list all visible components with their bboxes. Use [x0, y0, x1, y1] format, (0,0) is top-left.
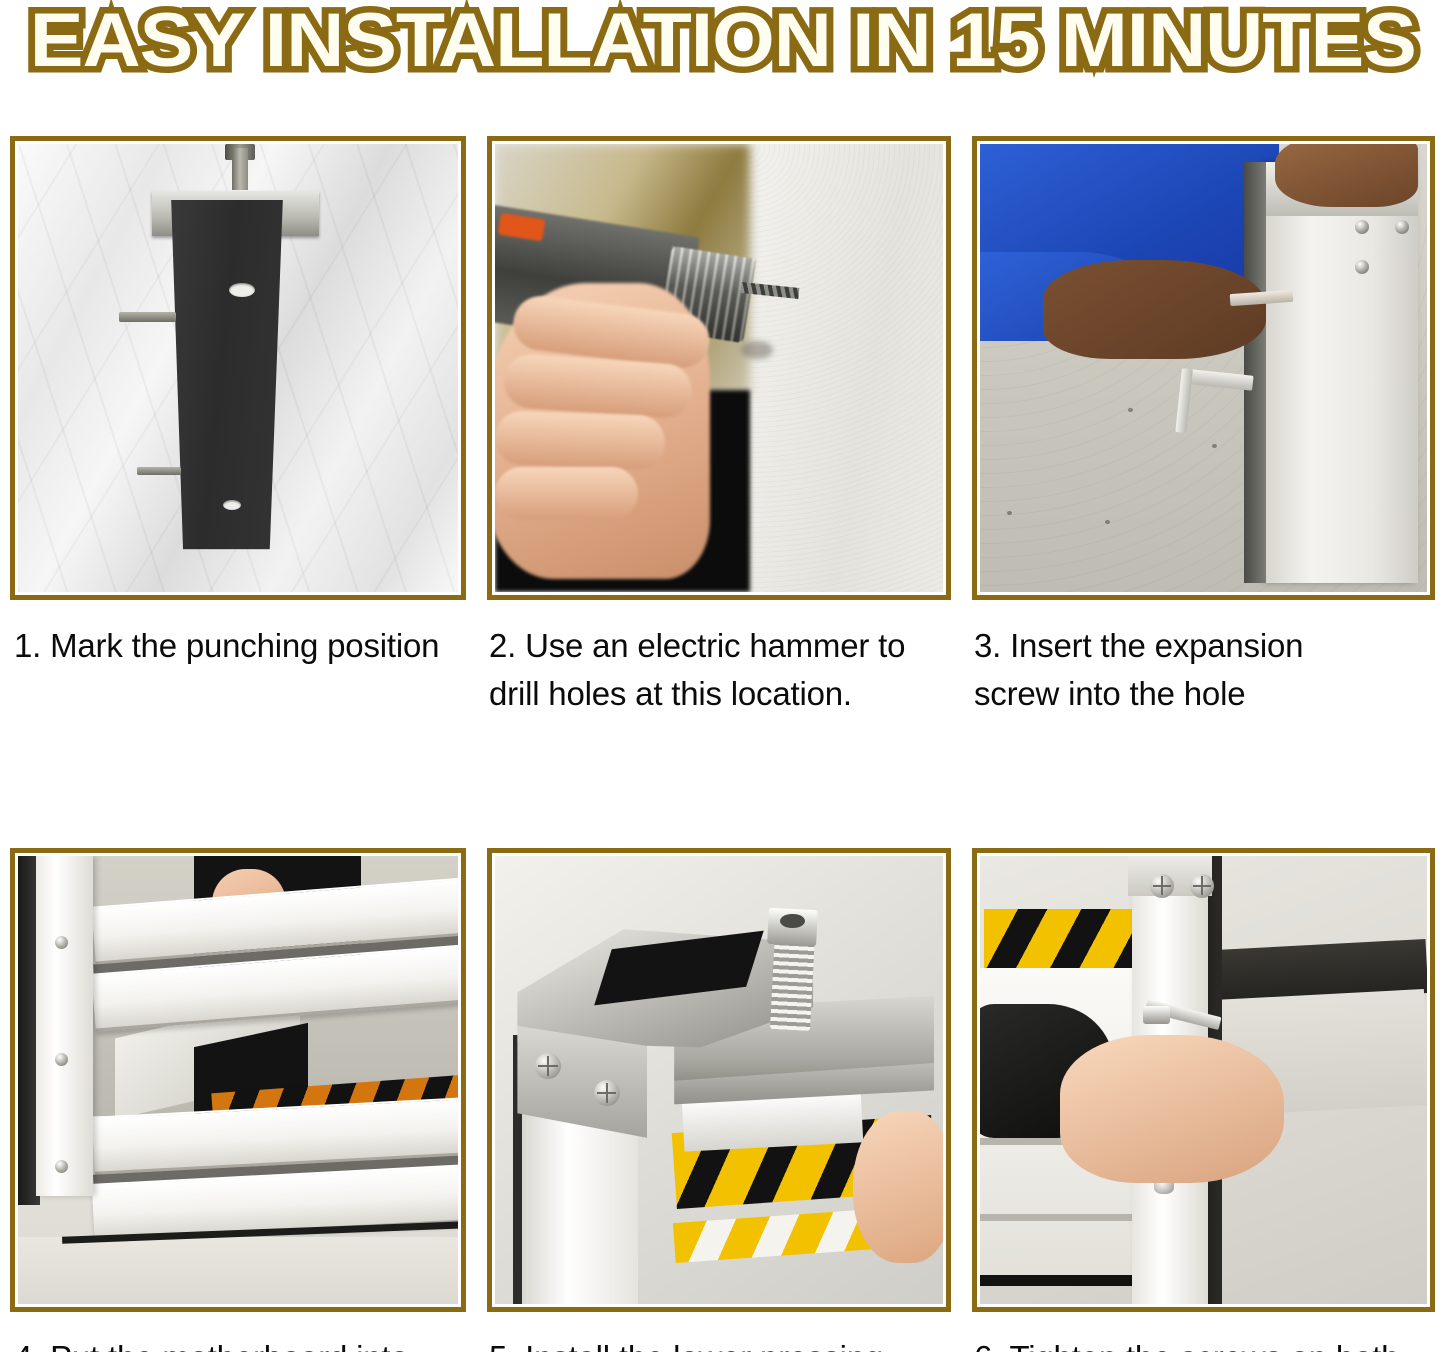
thumb-icon	[853, 1111, 943, 1263]
plate-hole-lower-icon	[223, 500, 241, 510]
step-photo-frame-1	[10, 136, 466, 600]
allen-key-head-icon	[1143, 1006, 1170, 1024]
step-photo-frame-4	[10, 848, 466, 1312]
stud-upper-icon	[119, 312, 176, 322]
bolt-socket-hole-icon	[780, 914, 805, 928]
step-caption-1: 1. Mark the punching position	[10, 622, 466, 670]
finger-icon	[495, 467, 638, 521]
phillips-screw-icon	[1190, 874, 1214, 898]
step-caption-4: 4. Put the motherboard into the card slo…	[10, 1334, 466, 1352]
infographic-page: EASY INSTALLATION IN 15 MINUTES 1. Mark …	[0, 0, 1445, 1352]
page-title: EASY INSTALLATION IN 15 MINUTES	[29, 0, 1415, 84]
drill-dust-icon	[741, 341, 772, 359]
step-photo-3	[980, 144, 1427, 592]
step-card-3: 3. Insert the expansion screw into the h…	[965, 136, 1445, 718]
white-column-icon	[36, 856, 93, 1196]
step-card-4: 4. Put the motherboard into the card slo…	[0, 718, 480, 1352]
step-photo-frame-3	[972, 136, 1435, 600]
floor-speck-icon	[1128, 408, 1133, 412]
step-card-1: 1. Mark the punching position	[0, 136, 480, 718]
step-card-6: 6. Tighten the screws on both sides of t…	[965, 718, 1445, 1352]
dark-mounting-plate-icon	[168, 200, 287, 549]
step-photo-frame-2	[487, 136, 951, 600]
step-caption-2: 2. Use an electric hammer to drill holes…	[487, 622, 951, 718]
floor-icon	[18, 1237, 458, 1304]
wall-surface-icon	[746, 144, 943, 592]
panel-bottom-strip-icon	[980, 1275, 1132, 1286]
phillips-screw-icon	[1150, 874, 1174, 898]
phillips-screw-icon	[535, 1053, 561, 1079]
title-banner: EASY INSTALLATION IN 15 MINUTES	[0, 0, 1445, 86]
step-photo-5	[495, 856, 943, 1304]
step-card-2: 2. Use an electric hammer to drill holes…	[480, 136, 965, 718]
hand-icon	[1060, 1035, 1284, 1183]
step-photo-frame-6	[972, 848, 1435, 1312]
step-caption-6: 6. Tighten the screws on both sides of t…	[972, 1334, 1435, 1352]
step-photo-4	[18, 856, 458, 1304]
step-card-5: 5. Install the lower pressing parts on b…	[480, 718, 965, 1352]
hand-icon	[1275, 144, 1418, 207]
phillips-screw-icon	[594, 1080, 620, 1106]
stud-lower-icon	[137, 467, 181, 475]
step-photo-1	[18, 144, 458, 592]
step-photo-frame-5	[487, 848, 951, 1312]
plate-hole-upper-icon	[229, 283, 255, 297]
finger-icon	[495, 410, 666, 470]
column-dark-edge-icon	[1244, 162, 1266, 583]
column-screw-icon	[1355, 220, 1369, 234]
hand-icon	[1043, 260, 1267, 359]
step-photo-2	[495, 144, 943, 592]
steps-grid: 1. Mark the punching position	[0, 136, 1445, 1352]
yellow-black-hazard-stripe-icon	[984, 909, 1132, 967]
panel-seam-icon	[980, 1214, 1132, 1221]
step-photo-6	[980, 856, 1427, 1304]
step-caption-3: 3. Insert the expansion screw into the h…	[972, 622, 1435, 718]
step-caption-5: 5. Install the lower pressing parts on b…	[487, 1334, 951, 1352]
bolt-shaft-icon	[232, 148, 248, 190]
